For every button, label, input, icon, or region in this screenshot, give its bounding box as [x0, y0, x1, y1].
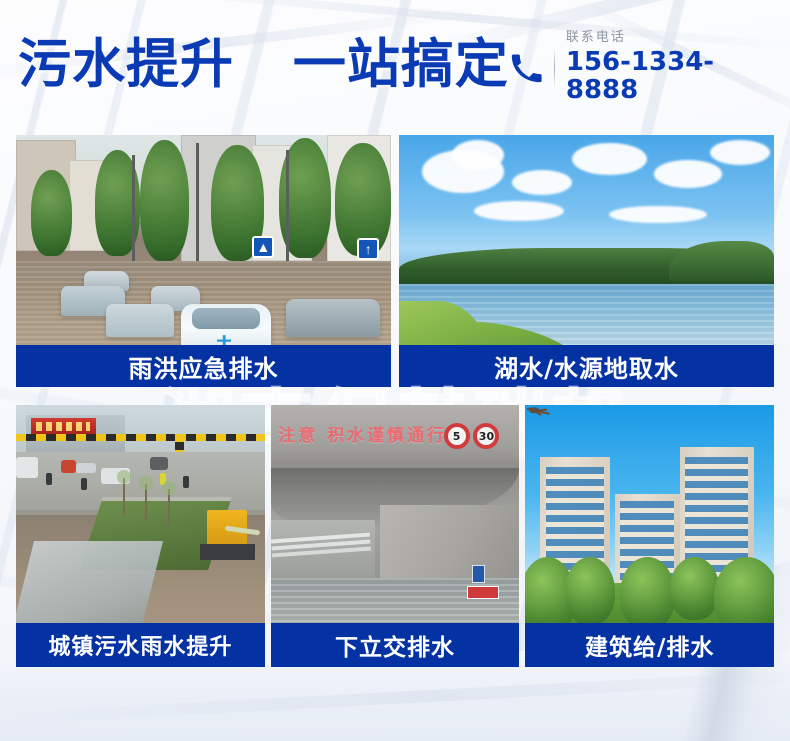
photo-cloud — [710, 140, 770, 165]
photo-lamp-post — [196, 143, 199, 279]
card-caption: 城镇污水雨水提升 — [16, 623, 265, 667]
pedestrian-sign-glyph: ▲ — [256, 240, 270, 254]
photo-vehicle — [16, 457, 38, 478]
photo-cloud — [609, 206, 707, 224]
photo-sapling — [145, 484, 147, 521]
photo-shrub — [565, 557, 615, 625]
photo-cloud — [512, 170, 572, 195]
phone-icon — [509, 51, 543, 85]
photo-road-sign: ↑ — [357, 238, 379, 260]
contact-divider — [554, 48, 555, 88]
photo-warning-board — [467, 586, 499, 599]
photo-vehicle — [76, 463, 96, 473]
photo-cloud — [474, 201, 564, 221]
photo-shrub — [620, 557, 675, 630]
card-caption: 湖水/水源地取水 — [399, 345, 774, 387]
photo-lamp-post — [286, 150, 289, 276]
gallery-bottom-row: 城镇污水雨水提升 注意 积水谨慎通行 5 30 下立交排水 — [16, 405, 774, 667]
contact-phone-number[interactable]: 156-1334-8888 — [566, 48, 776, 105]
photo-retaining-wall — [271, 520, 375, 583]
card-underpass-drainage[interactable]: 注意 积水谨慎通行 5 30 下立交排水 — [271, 405, 520, 667]
photo-pump-trailer — [200, 544, 255, 560]
photo-rider — [81, 478, 87, 490]
contact-block[interactable]: 联系电话 156-1334-8888 — [509, 23, 776, 104]
photo-cloud — [452, 140, 505, 170]
headline-part-2: 一站搞定 — [293, 34, 509, 95]
photo-cloud — [654, 160, 722, 188]
headline-part-1: 污水提升 — [18, 34, 234, 95]
photo-foreground-branch — [525, 405, 615, 457]
photo-cloud — [572, 143, 647, 176]
photo-treeline — [669, 241, 774, 281]
poster-root: 污水提升 一站搞定 联系电话 156-1334-8888 — [0, 0, 790, 741]
photo-rider — [183, 476, 189, 488]
card-lake-water-intake[interactable]: 湖水/水源地取水 — [399, 135, 774, 387]
gallery-top-row: ▲ ↑ 雨洪应急排水 湖水/水源地取水 — [16, 135, 774, 387]
photo-vehicle — [150, 457, 167, 470]
card-caption: 下立交排水 — [271, 623, 520, 667]
card-municipal-sewage-stormwater[interactable]: 城镇污水雨水提升 — [16, 405, 265, 667]
card-flood-emergency-drainage[interactable]: ▲ ↑ 雨洪应急排水 — [16, 135, 391, 387]
photo-warning-text: 注意 积水谨慎通行 — [278, 421, 447, 446]
photo-blue-plate-sign — [472, 565, 484, 583]
arrow-up-icon: ↑ — [365, 242, 372, 256]
photo-lamp-post — [132, 155, 135, 276]
photo-vehicle — [61, 460, 76, 473]
page-title: 污水提升 一站搞定 — [18, 38, 509, 91]
contact-label: 联系电话 — [566, 31, 776, 45]
photo-submerged-car — [286, 299, 380, 337]
contact-text: 联系电话 156-1334-8888 — [566, 31, 776, 104]
photo-submerged-car — [106, 304, 174, 337]
photo-gantry-beam — [16, 434, 265, 441]
card-caption: 雨洪应急排水 — [16, 345, 391, 387]
header: 污水提升 一站搞定 联系电话 156-1334-8888 — [0, 0, 790, 128]
photo-height-limit-sign: 5 — [444, 423, 470, 449]
photo-rider — [46, 473, 52, 485]
photo-tree — [140, 140, 189, 261]
photo-sapling — [123, 478, 125, 515]
photo-sapling — [168, 489, 170, 526]
photo-road-sign: ▲ — [252, 236, 274, 258]
photo-tree — [31, 170, 72, 256]
card-caption: 建筑给/排水 — [525, 623, 774, 667]
card-building-water-supply-drainage[interactable]: 建筑给/排水 — [525, 405, 774, 667]
photo-shrub — [670, 557, 720, 620]
